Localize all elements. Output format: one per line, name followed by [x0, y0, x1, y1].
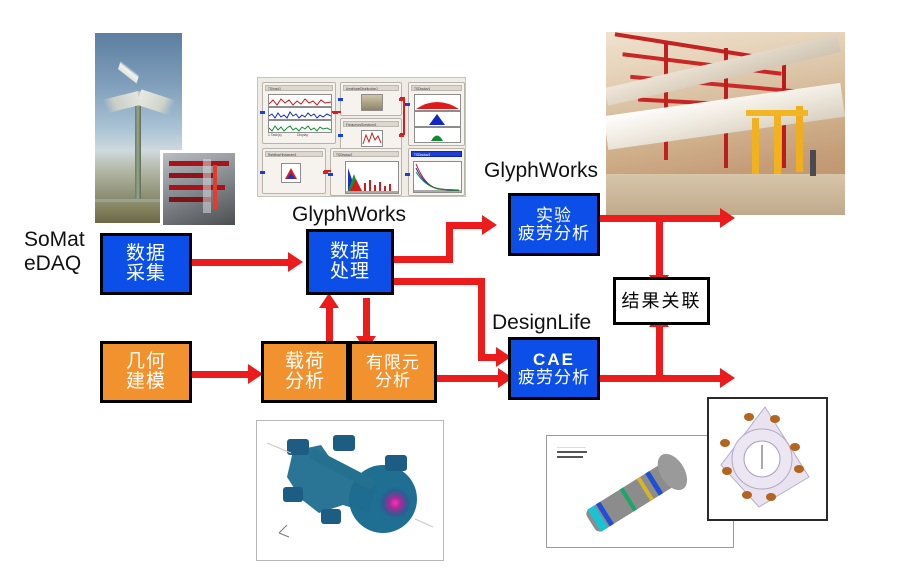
box-data-acquisition[interactable]: 数据 采集 — [100, 233, 192, 295]
arrow-fe-to-cae — [437, 375, 503, 382]
box-fe-analysis[interactable]: 有限元 分析 — [349, 341, 437, 403]
fea-crankshaft-contour — [256, 420, 444, 561]
arrow-load-to-processing — [326, 306, 333, 346]
box-data-processing[interactable]: 数据 处理 — [306, 229, 394, 295]
box-label-line2: 采集 — [126, 264, 166, 284]
arrow-head — [319, 293, 339, 308]
connector-processing-upper — [393, 256, 453, 263]
gw-pane-tsdisplay3: TSDisplay3 — [408, 148, 465, 196]
gw-pane-spectrum: FrequencySpectrum1 — [340, 118, 402, 152]
label-somat-line1: SoMat — [24, 228, 85, 251]
arrow-processing-to-fe — [363, 298, 370, 338]
gw-pane-rainflow: RainflowHistogram1 — [262, 148, 326, 194]
gw-pane-tsdisplay1: TSDisplay1 — [408, 82, 465, 146]
box-label-line2: 处理 — [330, 262, 370, 282]
box-label-line2: 疲劳分析 — [518, 369, 590, 387]
connector-cae-to-correlation — [656, 325, 663, 382]
box-label-line1: 结果关联 — [622, 292, 702, 311]
box-label-line1: 数据 — [330, 242, 370, 262]
fea-hub-mesh — [707, 397, 828, 521]
blade-test-lab-photo — [606, 32, 845, 215]
box-label-line2: 建模 — [126, 372, 166, 392]
gw-pane-title: AmplitudeDistribution1 — [343, 85, 399, 91]
box-geometry-modeling[interactable]: 几何 建模 — [100, 341, 192, 403]
connector-processing-lower-riser — [478, 278, 485, 361]
daq-hardware-photo — [160, 150, 238, 228]
connector-processing-lower — [393, 278, 485, 285]
box-label-line1: CAE — [533, 351, 575, 369]
gw-pane-amplitude: AmplitudeDistribution1 — [340, 82, 402, 116]
label-somat-edaq: SoMat eDAQ — [24, 228, 85, 275]
gw-pane-title: FrequencySpectrum1 — [343, 121, 399, 127]
box-label-line1: 实验 — [536, 207, 572, 225]
box-load-analysis[interactable]: 载荷 分析 — [261, 341, 349, 403]
gw-pane-tsinput: TSInput1 1 Task(s) Display — [262, 82, 336, 144]
connector-to-test-fatigue — [446, 222, 486, 229]
gw-footer-checkbox[interactable]: Display — [297, 133, 308, 137]
gw-pane-title: TSInput1 — [265, 85, 333, 91]
arrow-head — [720, 208, 735, 228]
box-cae-fatigue-analysis[interactable]: CAE 疲劳分析 — [508, 337, 600, 400]
arrow-head — [720, 368, 735, 388]
box-label-line1: 数据 — [126, 244, 166, 264]
label-designlife: DesignLife — [492, 311, 591, 335]
gw-pane-tsdisplay2: TSDisplay2 — [330, 148, 402, 196]
fea-bolt-contour: ————————— — [546, 435, 734, 548]
connector-test-to-correlation — [656, 215, 663, 277]
arrow-geometry-to-load — [192, 371, 250, 378]
arrow-acquisition-to-processing — [192, 259, 290, 266]
box-label-line2: 分析 — [285, 372, 325, 392]
gw-pane-title: TSDisplay3 — [411, 151, 462, 157]
box-result-correlation[interactable]: 结果关联 — [613, 277, 710, 325]
gw-footer-label: 1 Task(s) — [268, 133, 282, 137]
gw-pane-title: RainflowHistogram1 — [265, 151, 323, 157]
box-test-fatigue-analysis[interactable]: 实验 疲劳分析 — [508, 193, 600, 256]
label-edaq-line2: eDAQ — [24, 252, 81, 275]
label-glyphworks-top-right: GlyphWorks — [484, 159, 598, 183]
arrow-head — [482, 215, 497, 235]
box-label-line2: 分析 — [375, 372, 411, 390]
gw-pane-title: TSDisplay1 — [411, 85, 462, 91]
box-label-line1: 有限元 — [366, 354, 420, 372]
gw-pane-title: TSDisplay2 — [333, 151, 399, 157]
arrow-head — [288, 252, 303, 272]
glyphworks-application-screenshot: TSInput1 1 Task(s) Display — [257, 77, 466, 197]
box-label-line2: 疲劳分析 — [518, 225, 590, 243]
box-label-line1: 几何 — [126, 352, 166, 372]
box-label-line1: 载荷 — [285, 352, 325, 372]
label-glyphworks-center: GlyphWorks — [292, 203, 406, 227]
diagram-canvas: TSInput1 1 Task(s) Display — [0, 0, 907, 584]
